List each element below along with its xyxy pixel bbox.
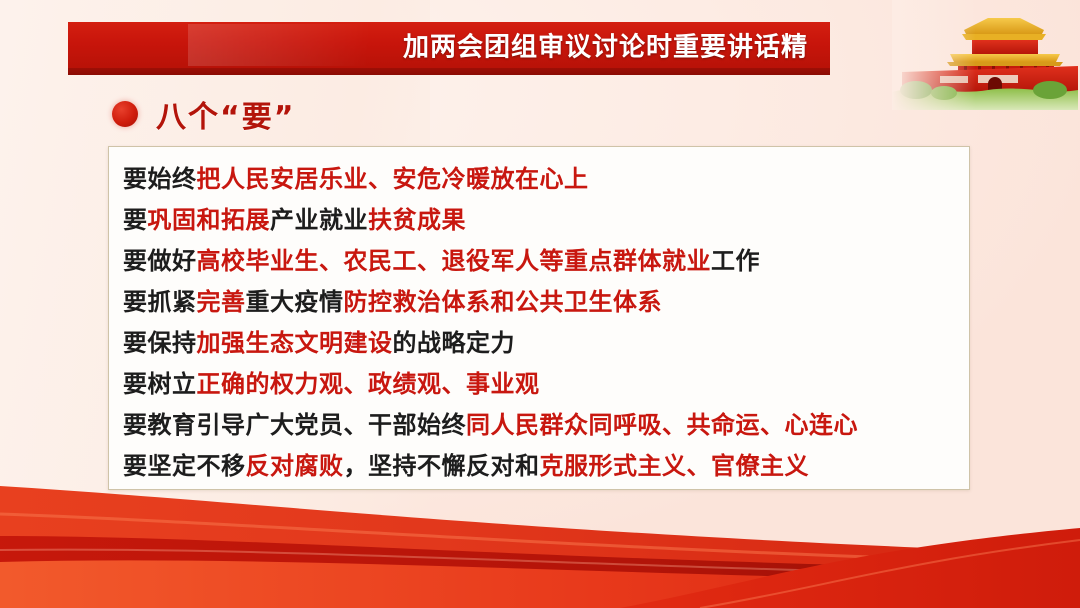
content-emphasis-text: 完善 (197, 288, 246, 316)
red-dot-icon (112, 101, 138, 127)
content-plain-text: 产业就业 (270, 206, 368, 234)
content-plain-text: 重大疫情 (246, 288, 344, 316)
content-emphasis-text: 高校毕业生、农民工、退役军人等重点群体就业 (197, 247, 712, 275)
content-plain-text: 要树立 (123, 370, 197, 398)
content-line: 要做好高校毕业生、农民工、退役军人等重点群体就业工作 (123, 241, 969, 282)
content-emphasis-text: 扶贫成果 (368, 206, 466, 234)
slide-canvas: 加两会团组审议讨论时重要讲话精 (0, 0, 1080, 608)
content-plain-text: 要始终 (123, 165, 197, 193)
content-line: 要树立正确的权力观、政绩观、事业观 (123, 364, 969, 405)
page-title: 加两会团组审议讨论时重要讲话精 (403, 27, 808, 64)
content-line: 要教育引导广大党员、干部始终同人民群众同呼吸、共命运、心连心 (123, 405, 969, 446)
tiananmen-gate-icon (892, 0, 1078, 110)
content-plain-text: 工作 (711, 247, 760, 275)
red-ribbon-swoosh-icon (0, 458, 1080, 608)
content-emphasis-text: 防控救治体系和公共卫生体系 (344, 288, 663, 316)
content-emphasis-text: 同人民群众同呼吸、共命运、心连心 (466, 411, 858, 439)
content-card: 要始终把人民安居乐业、安危冷暖放在心上要巩固和拓展产业就业扶贫成果要做好高校毕业… (108, 146, 970, 490)
content-emphasis-text: 巩固和拓展 (148, 206, 271, 234)
content-plain-text: 要抓紧 (123, 288, 197, 316)
content-plain-text: 要保持 (123, 329, 197, 357)
content-emphasis-text: 把人民安居乐业、安危冷暖放在心上 (197, 165, 589, 193)
content-line: 要抓紧完善重大疫情防控救治体系和公共卫生体系 (123, 282, 969, 323)
content-plain-text: 的战略定力 (393, 329, 516, 357)
content-emphasis-text: 正确的权力观、政绩观、事业观 (197, 370, 540, 398)
section-heading: 八个“要” (112, 92, 295, 136)
content-emphasis-text: 加强生态文明建设 (197, 329, 393, 357)
banner-sheen (188, 24, 368, 66)
section-heading-label: 八个“要” (156, 92, 295, 136)
content-line: 要始终把人民安居乐业、安危冷暖放在心上 (123, 159, 969, 200)
content-plain-text: 要做好 (123, 247, 197, 275)
content-plain-text: 要教育引导广大党员、干部始终 (123, 411, 466, 439)
content-line: 要巩固和拓展产业就业扶贫成果 (123, 200, 969, 241)
content-plain-text: 要 (123, 206, 148, 234)
content-line: 要保持加强生态文明建设的战略定力 (123, 323, 969, 364)
header-banner: 加两会团组审议讨论时重要讲话精 (68, 22, 830, 68)
